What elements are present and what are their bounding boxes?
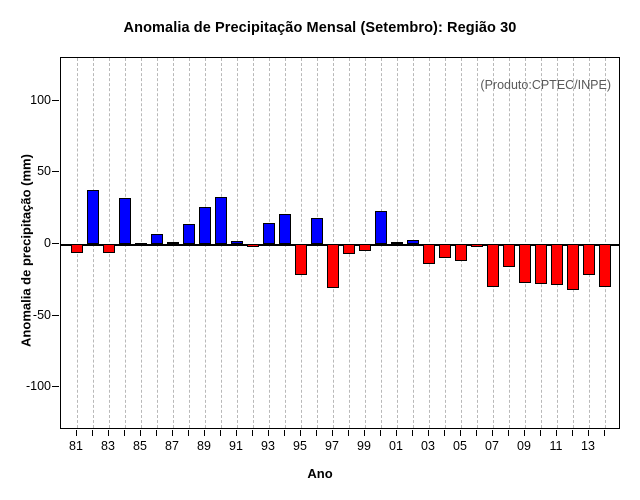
x-tick-label: 93 xyxy=(253,439,283,453)
bar-90 xyxy=(215,197,227,244)
x-tick-mark xyxy=(348,430,349,436)
x-tick-label: 89 xyxy=(189,439,219,453)
bar-08 xyxy=(503,244,515,267)
x-tick-mark xyxy=(236,430,237,436)
x-tick-mark xyxy=(364,430,365,436)
bar-86 xyxy=(151,234,163,244)
x-tick-label: 83 xyxy=(93,439,123,453)
plot-area: (Produto:CPTEC/INPE) xyxy=(60,57,620,429)
credit-annotation: (Produto:CPTEC/INPE) xyxy=(480,78,611,92)
bars-layer xyxy=(61,58,619,428)
x-tick-mark xyxy=(492,430,493,436)
y-tick-mark xyxy=(52,171,59,172)
x-tick-mark xyxy=(172,430,173,436)
bar-07 xyxy=(487,244,499,287)
bar-09 xyxy=(519,244,531,283)
x-tick-mark xyxy=(188,430,189,436)
x-tick-mark xyxy=(124,430,125,436)
x-tick-mark xyxy=(380,430,381,436)
x-tick-label: 87 xyxy=(157,439,187,453)
x-tick-label: 95 xyxy=(285,439,315,453)
x-tick-mark xyxy=(428,430,429,436)
x-tick-mark xyxy=(76,430,77,436)
x-tick-mark xyxy=(604,430,605,436)
bar-82 xyxy=(87,190,99,244)
x-tick-mark xyxy=(204,430,205,436)
x-tick-mark xyxy=(540,430,541,436)
y-tick-label: 100 xyxy=(5,93,51,107)
x-tick-label: 97 xyxy=(317,439,347,453)
x-tick-mark xyxy=(332,430,333,436)
bar-89 xyxy=(199,207,211,244)
x-tick-mark xyxy=(508,430,509,436)
x-tick-mark xyxy=(108,430,109,436)
bar-85 xyxy=(135,243,147,246)
bar-02 xyxy=(407,240,419,244)
x-tick-mark xyxy=(252,430,253,436)
x-tick-mark xyxy=(268,430,269,436)
bar-12 xyxy=(567,244,579,290)
bar-01 xyxy=(391,242,403,245)
x-tick-mark xyxy=(524,430,525,436)
x-tick-label: 85 xyxy=(125,439,155,453)
x-tick-mark xyxy=(412,430,413,436)
y-tick-mark xyxy=(52,315,59,316)
x-tick-mark xyxy=(460,430,461,436)
bar-96 xyxy=(311,218,323,244)
bar-13 xyxy=(583,244,595,275)
x-tick-label: 03 xyxy=(413,439,443,453)
bar-93 xyxy=(263,223,275,244)
bar-98 xyxy=(343,244,355,254)
x-tick-mark xyxy=(220,430,221,436)
y-tick-mark xyxy=(52,386,59,387)
bar-91 xyxy=(231,241,243,244)
x-tick-label: 09 xyxy=(509,439,539,453)
y-tick-mark xyxy=(52,243,59,244)
x-tick-label: 01 xyxy=(381,439,411,453)
x-tick-label: 07 xyxy=(477,439,507,453)
x-tick-mark xyxy=(92,430,93,436)
x-tick-mark xyxy=(396,430,397,436)
x-tick-mark xyxy=(476,430,477,436)
bar-95 xyxy=(295,244,307,275)
x-tick-label: 99 xyxy=(349,439,379,453)
bar-83 xyxy=(103,244,115,253)
bar-14 xyxy=(599,244,611,287)
y-tick-label: -100 xyxy=(5,379,51,393)
x-tick-label: 91 xyxy=(221,439,251,453)
bar-81 xyxy=(71,244,83,253)
bar-10 xyxy=(535,244,547,284)
bar-92 xyxy=(247,244,259,247)
bar-06 xyxy=(471,244,483,247)
x-tick-label: 81 xyxy=(61,439,91,453)
bar-97 xyxy=(327,244,339,288)
x-tick-mark xyxy=(588,430,589,436)
bar-94 xyxy=(279,214,291,244)
x-tick-mark xyxy=(316,430,317,436)
x-tick-mark xyxy=(140,430,141,436)
x-tick-mark xyxy=(444,430,445,436)
page-title: Anomalia de Precipitação Mensal (Setembr… xyxy=(0,20,640,36)
bar-87 xyxy=(167,242,179,245)
x-tick-mark xyxy=(572,430,573,436)
x-tick-label: 05 xyxy=(445,439,475,453)
bar-99 xyxy=(359,244,371,251)
bar-03 xyxy=(423,244,435,264)
bar-00 xyxy=(375,211,387,244)
chart-page: Anomalia de Precipitação Mensal (Setembr… xyxy=(0,0,640,500)
y-tick-mark xyxy=(52,100,59,101)
bar-11 xyxy=(551,244,563,285)
x-axis-title: Ano xyxy=(0,466,640,481)
x-tick-mark xyxy=(300,430,301,436)
x-tick-mark xyxy=(284,430,285,436)
x-tick-label: 11 xyxy=(541,439,571,453)
bar-84 xyxy=(119,198,131,244)
x-tick-mark xyxy=(156,430,157,436)
x-tick-mark xyxy=(556,430,557,436)
y-axis-title: Anomalia de precipitação (mm) xyxy=(19,121,34,381)
bar-88 xyxy=(183,224,195,244)
x-tick-label: 13 xyxy=(573,439,603,453)
bar-04 xyxy=(439,244,451,258)
bar-05 xyxy=(455,244,467,261)
